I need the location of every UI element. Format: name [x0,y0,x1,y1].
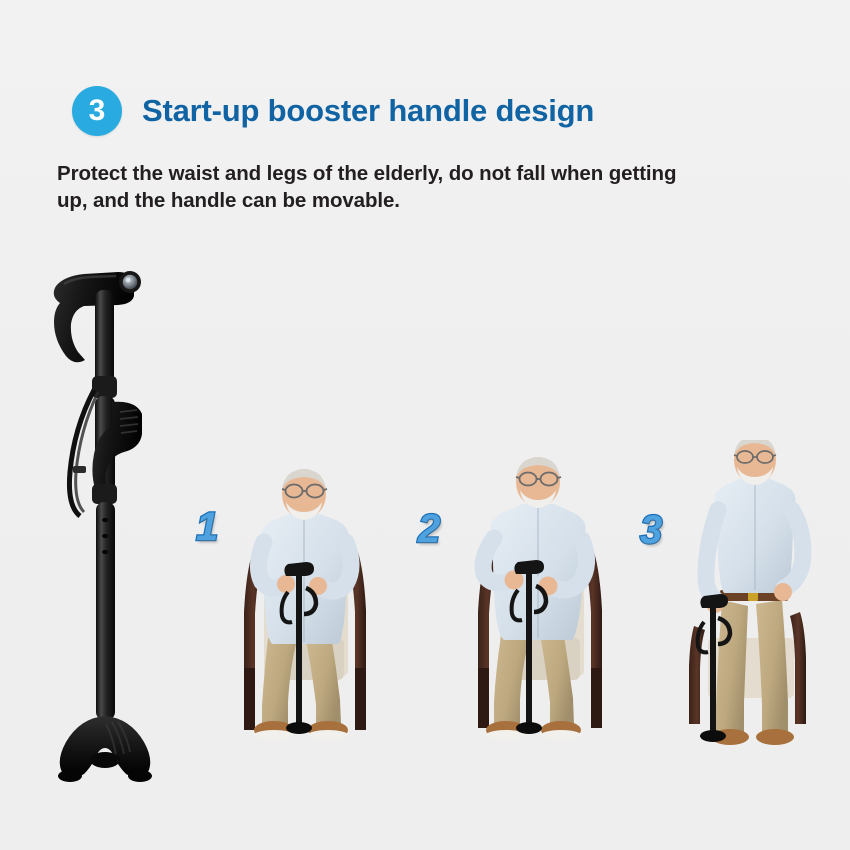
left-leg [262,638,296,724]
cane-collar-lower [92,484,117,504]
person-rising [483,457,586,740]
cane-base [700,730,726,742]
step-badge-number: 3 [89,96,106,126]
left-arm [706,510,718,598]
photo-1-illustration [228,462,380,744]
step-number-2: 2 [418,509,440,549]
step-photo-1-seated [228,462,380,744]
step-photo-2-rising [460,452,612,744]
person-seated [254,469,351,740]
cane-base [286,722,312,734]
right-shoe [756,729,794,745]
photo-2-illustration [460,452,612,744]
photo-3-illustration [678,440,830,745]
product-cane-image [40,248,170,808]
head [734,440,776,485]
page-subtitle: Protect the waist and legs of the elderl… [57,160,817,214]
subtitle-line-2: up, and the handle can be movable. [57,187,817,214]
step-badge: 3 [72,86,122,136]
header: 3 Start-up booster handle design [72,86,594,136]
cane-base [516,722,542,734]
cane-quad-base [58,716,152,782]
left-hand [277,575,295,593]
infographic-page: 3 Start-up booster handle design Protect… [0,0,850,850]
head [516,457,561,508]
head [282,469,327,520]
person-standing [706,440,803,745]
torso-shirt [261,514,349,644]
subtitle-line-1: Protect the waist and legs of the elderl… [57,160,817,187]
step-number-1: 1 [196,507,218,547]
cane-illustration [40,248,170,808]
led-flashlight-icon [123,275,138,290]
right-leg [756,600,788,732]
chair [689,612,806,724]
page-title: Start-up booster handle design [142,93,594,129]
step-number-3: 3 [640,510,662,550]
step-photo-3-standing [678,440,830,745]
cane-upper-shaft [95,290,114,385]
right-hand [774,583,792,601]
